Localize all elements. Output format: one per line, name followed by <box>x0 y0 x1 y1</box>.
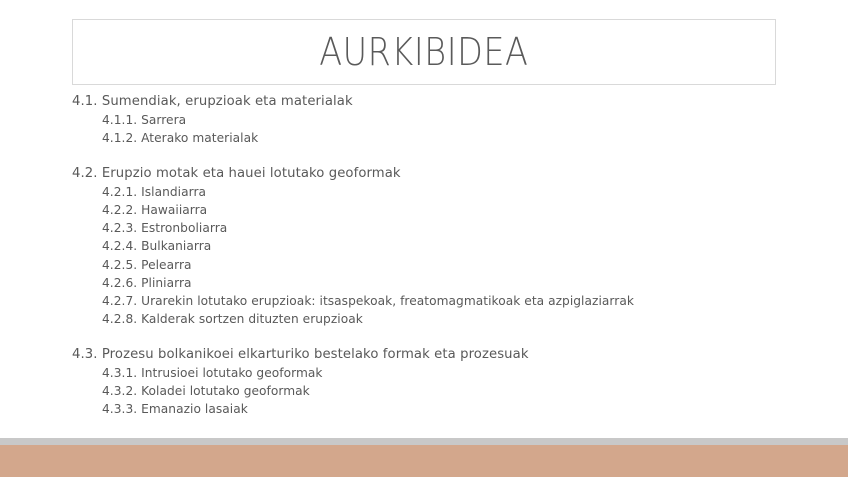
outline-subitem: 4.2.7. Urarekin lotutako erupzioak: itsa… <box>72 292 812 310</box>
outline-heading: 4.1. Sumendiak, erupzioak eta materialak <box>72 92 812 111</box>
outline-subitem: 4.2.4. Bulkaniarra <box>72 237 812 255</box>
footer-band-tan <box>0 445 848 477</box>
outline-heading: 4.3. Prozesu bolkanikoei elkarturiko bes… <box>72 345 812 364</box>
outline-subitem: 4.2.5. Pelearra <box>72 256 812 274</box>
outline-subitem: 4.3.2. Koladei lotutako geoformak <box>72 382 812 400</box>
slide-title-box: AURKIBIDEA <box>72 19 776 85</box>
outline-subitem: 4.1.1. Sarrera <box>72 111 812 129</box>
outline-subitem: 4.2.6. Pliniarra <box>72 274 812 292</box>
outline-subitem: 4.3.3. Emanazio lasaiak <box>72 400 812 418</box>
outline-heading: 4.2. Erupzio motak eta hauei lotutako ge… <box>72 164 812 183</box>
outline-subitem: 4.3.1. Intrusioei lotutako geoformak <box>72 364 812 382</box>
outline-subitem: 4.2.3. Estronboliarra <box>72 219 812 237</box>
outline-subitem: 4.2.8. Kalderak sortzen dituzten erupzio… <box>72 310 812 328</box>
outline-subitem: 4.1.2. Aterako materialak <box>72 129 812 147</box>
footer-band-gray <box>0 438 848 445</box>
outline-section: 4.1. Sumendiak, erupzioak eta materialak… <box>72 92 812 147</box>
outline-section: 4.2. Erupzio motak eta hauei lotutako ge… <box>72 164 812 328</box>
outline-subitem: 4.2.2. Hawaiiarra <box>72 201 812 219</box>
slide-outline-content: 4.1. Sumendiak, erupzioak eta materialak… <box>72 92 812 418</box>
outline-section: 4.3. Prozesu bolkanikoei elkarturiko bes… <box>72 345 812 418</box>
outline-subitem: 4.2.1. Islandiarra <box>72 183 812 201</box>
presentation-slide: AURKIBIDEA 4.1. Sumendiak, erupzioak eta… <box>0 0 848 477</box>
slide-title: AURKIBIDEA <box>319 33 528 71</box>
